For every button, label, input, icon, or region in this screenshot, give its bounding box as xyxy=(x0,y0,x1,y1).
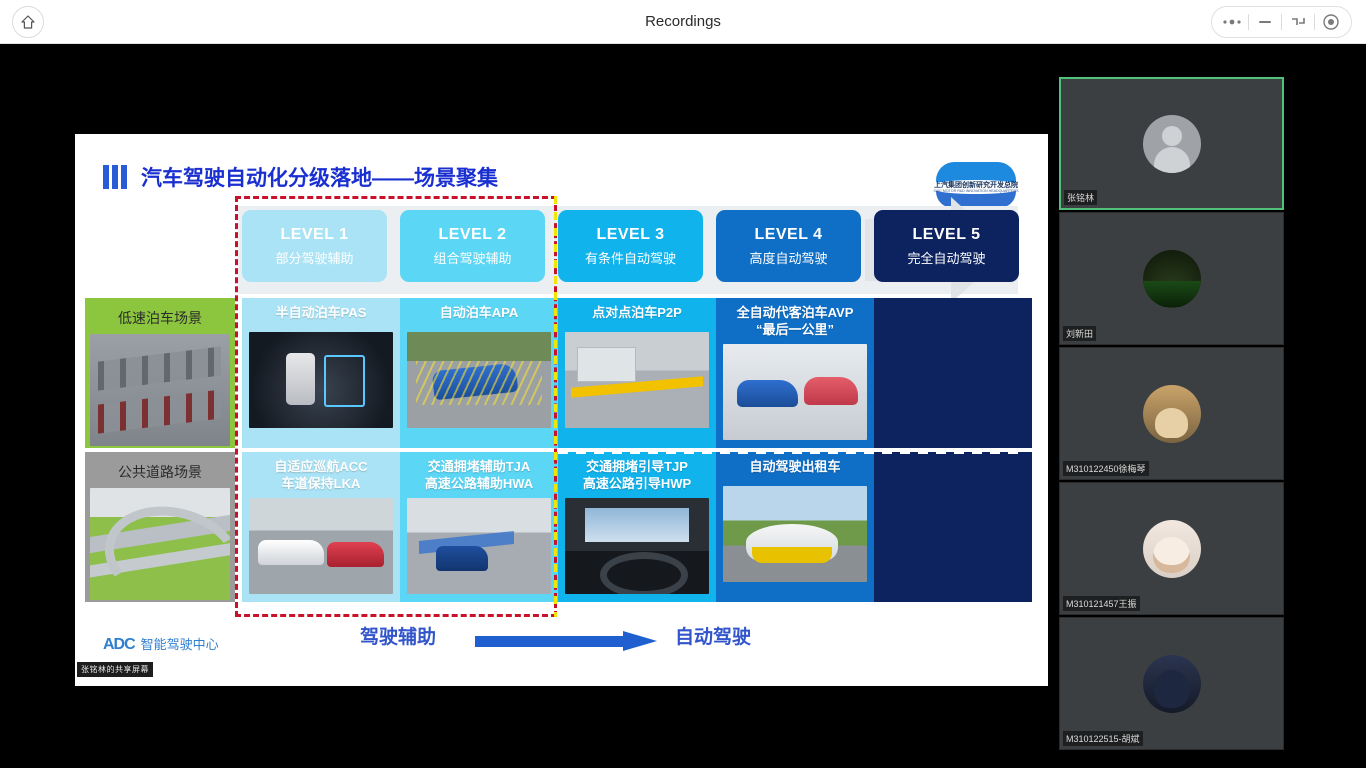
record-button[interactable] xyxy=(1315,7,1347,37)
level-card-title: LEVEL 2 xyxy=(438,226,506,244)
cell-title xyxy=(874,298,1032,326)
level-card-4: LEVEL 4高度自动驾驶 xyxy=(716,210,861,282)
participant-tile[interactable]: M310122515-胡斌 xyxy=(1059,617,1284,750)
cell-title-line1: 点对点泊车P2P xyxy=(558,304,716,321)
participant-name: M310122515-胡斌 xyxy=(1063,731,1143,746)
cell-title: 自动驾驶出租车 xyxy=(716,452,874,480)
window-titlebar: Recordings xyxy=(0,0,1366,44)
cell-illustration xyxy=(565,498,709,594)
cell-title: 全自动代客泊车AVP“最后一公里” xyxy=(716,298,874,338)
minimize-button[interactable] xyxy=(1249,7,1281,37)
avatar xyxy=(1143,520,1201,578)
participant-tile[interactable]: 刘新田 xyxy=(1059,212,1284,345)
level-card-subtitle: 组合驾驶辅助 xyxy=(433,248,511,267)
adc-logo-text: 智能驾驶中心 xyxy=(141,637,219,652)
tja-road-image xyxy=(407,498,551,594)
participant-name: 刘新田 xyxy=(1063,326,1096,341)
level-card-subtitle: 高度自动驾驶 xyxy=(749,248,827,267)
level-card-2: LEVEL 2组合驾驶辅助 xyxy=(400,210,545,282)
slide-title: 汽车驾驶自动化分级落地——场景聚集 xyxy=(141,162,498,192)
row-label-text: 公共道路场景 xyxy=(85,458,235,488)
cell-robotaxi: 自动驾驶出租车 xyxy=(716,452,874,602)
adc-logo: ADC智能驾驶中心 xyxy=(103,634,303,658)
row-illustration xyxy=(90,334,230,446)
cell-p2p: 点对点泊车P2P xyxy=(558,298,716,448)
interchange-image xyxy=(90,488,230,600)
cell-title-line2: 车道保持LKA xyxy=(242,475,400,492)
level-card-1: LEVEL 1部分驾驶辅助 xyxy=(242,210,387,282)
more-dots-icon xyxy=(1221,17,1243,27)
cell-title-line1: 自动驾驶出租车 xyxy=(716,458,874,475)
participant-name: M310121457王振 xyxy=(1063,596,1140,611)
cell-title-line2: 高速公路引导HWP xyxy=(558,475,716,492)
automation-levels: LEVEL 1部分驾驶辅助LEVEL 2组合驾驶辅助LEVEL 3有条件自动驾驶… xyxy=(242,210,1022,290)
cell-illustration xyxy=(249,498,393,594)
presentation-slide: 汽车驾驶自动化分级落地——场景聚集 上汽集团创新研究开发总院 SAIC MOTO… xyxy=(75,134,1048,686)
level-card-3: LEVEL 3有条件自动驾驶 xyxy=(558,210,703,282)
cell-title-line1: 交通拥堵引导TJP xyxy=(558,458,716,475)
cell-tjp-hwp: 交通拥堵引导TJP高速公路引导HWP xyxy=(558,452,716,602)
cell-title-line2: 高速公路辅助HWA xyxy=(400,475,558,492)
cell-title-line1: 自动泊车APA xyxy=(400,304,558,321)
collapse-corner-icon xyxy=(1289,14,1307,30)
cell-illustration xyxy=(249,332,393,428)
level-card-subtitle: 部分驾驶辅助 xyxy=(275,248,353,267)
participant-strip: 张铭林刘新田M310122450徐梅琴M310121457王振M31012251… xyxy=(1059,77,1284,750)
row-label-text: 低速泊车场景 xyxy=(85,304,235,334)
cell-apa: 自动泊车APA xyxy=(400,298,558,448)
minus-icon xyxy=(1257,17,1273,27)
row-low-speed-parking-label: 低速泊车场景 xyxy=(85,298,235,448)
legend-left-label: 驾驶辅助 xyxy=(360,622,436,649)
cell-illustration xyxy=(723,486,867,582)
p2p-lot-image xyxy=(565,332,709,428)
record-circle-icon xyxy=(1322,13,1340,31)
cell-title: 半自动泊车PAS xyxy=(242,298,400,326)
cell-title-line2: “最后一公里” xyxy=(716,321,874,338)
level2-level3-divider xyxy=(554,196,557,617)
cell-title-line1: 全自动代客泊车AVP xyxy=(716,304,874,321)
cell-title-line1: 自适应巡航ACC xyxy=(242,458,400,475)
level-card-subtitle: 有条件自动驾驶 xyxy=(585,248,676,267)
acc-road-image xyxy=(249,498,393,594)
scenario-matrix: 低速泊车场景半自动泊车PAS自动泊车APA点对点泊车P2P全自动代客泊车AVP“… xyxy=(85,298,1032,602)
participant-name: M310122450徐梅琴 xyxy=(1063,461,1149,476)
cell-l5-road xyxy=(874,452,1032,602)
tjp-cabin-image xyxy=(565,498,709,594)
participant-tile[interactable]: M310121457王振 xyxy=(1059,482,1284,615)
hmi-dash-image xyxy=(249,332,393,428)
participant-name: 张铭林 xyxy=(1064,190,1097,205)
parking-lot-image xyxy=(90,334,230,446)
cell-pas: 半自动泊车PAS xyxy=(242,298,400,448)
legend-right-label: 自动驾驶 xyxy=(675,622,751,649)
collapse-button[interactable] xyxy=(1282,7,1314,37)
level-card-title: LEVEL 3 xyxy=(596,226,664,244)
row-divider xyxy=(558,452,1023,454)
window-controls xyxy=(1211,6,1352,38)
level-card-5: LEVEL 5完全自动驾驶 xyxy=(874,210,1019,282)
more-options-button[interactable] xyxy=(1216,7,1248,37)
adc-mark: ADC xyxy=(103,636,135,653)
cell-illustration xyxy=(723,344,867,440)
row-illustration xyxy=(90,488,230,600)
cell-title: 自动泊车APA xyxy=(400,298,558,326)
cell-illustration xyxy=(565,332,709,428)
share-owner-label: 张铭林的共享屏幕 xyxy=(77,662,153,677)
title-bars-icon xyxy=(103,165,131,189)
robotaxi-image xyxy=(723,486,867,582)
avatar xyxy=(1143,115,1201,173)
avp-lot-image xyxy=(723,344,867,440)
participant-tile[interactable]: M310122450徐梅琴 xyxy=(1059,347,1284,480)
brand-subtitle: SAIC MOTOR R&D INNOVATION HEADQUARTERS xyxy=(922,189,1030,193)
level-card-title: LEVEL 1 xyxy=(280,226,348,244)
level-card-title: LEVEL 5 xyxy=(912,226,980,244)
avatar xyxy=(1143,655,1201,713)
meeting-stage: 汽车驾驶自动化分级落地——场景聚集 上汽集团创新研究开发总院 SAIC MOTO… xyxy=(0,44,1366,768)
cell-illustration xyxy=(407,498,551,594)
cell-title: 交通拥堵辅助TJA高速公路辅助HWA xyxy=(400,452,558,492)
avatar xyxy=(1143,385,1201,443)
apa-cam-image xyxy=(407,332,551,428)
cell-title xyxy=(874,452,1032,480)
cell-title: 自适应巡航ACC车道保持LKA xyxy=(242,452,400,492)
level-card-subtitle: 完全自动驾驶 xyxy=(907,248,985,267)
cell-l5-parking xyxy=(874,298,1032,448)
cell-acc-lka: 自适应巡航ACC车道保持LKA xyxy=(242,452,400,602)
participant-tile[interactable]: 张铭林 xyxy=(1059,77,1284,210)
shared-screen[interactable]: 汽车驾驶自动化分级落地——场景聚集 上汽集团创新研究开发总院 SAIC MOTO… xyxy=(75,134,1048,686)
cell-title-line1: 半自动泊车PAS xyxy=(242,304,400,321)
cell-title-line1: 交通拥堵辅助TJA xyxy=(400,458,558,475)
cell-tja-hwa: 交通拥堵辅助TJA高速公路辅助HWA xyxy=(400,452,558,602)
avatar xyxy=(1143,250,1201,308)
page-title: Recordings xyxy=(0,0,1366,44)
cell-title: 交通拥堵引导TJP高速公路引导HWP xyxy=(558,452,716,492)
level-card-title: LEVEL 4 xyxy=(754,226,822,244)
row-public-road-label: 公共道路场景 xyxy=(85,452,235,602)
legend-arrow-icon xyxy=(475,632,661,650)
cell-avp: 全自动代客泊车AVP“最后一公里” xyxy=(716,298,874,448)
cell-title: 点对点泊车P2P xyxy=(558,298,716,326)
cell-illustration xyxy=(407,332,551,428)
